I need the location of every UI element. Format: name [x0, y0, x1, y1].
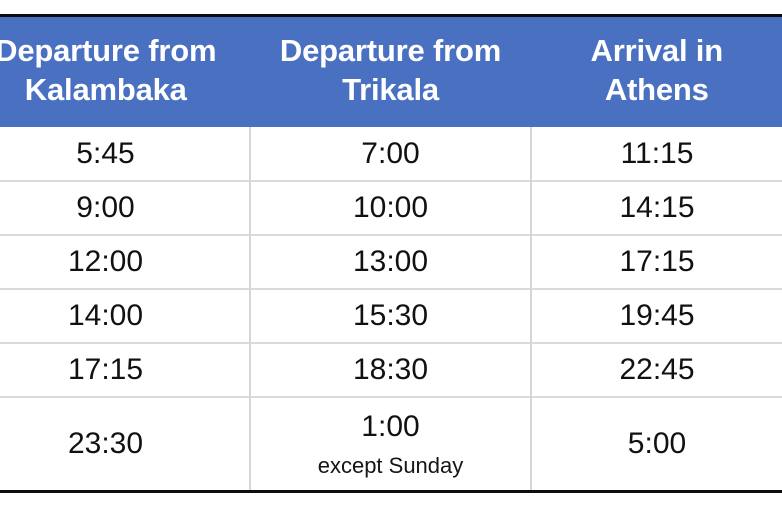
cell-value: 17:15	[538, 245, 776, 278]
cell-value: 15:30	[257, 299, 524, 332]
cell-arrival-athens: 5:00	[531, 397, 782, 492]
cell-departure-kalambaka: 14:00	[0, 289, 250, 343]
cell-departure-kalambaka: 9:00	[0, 181, 250, 235]
cell-value: 22:45	[538, 353, 776, 386]
cell-value: 13:00	[257, 245, 524, 278]
table-row: 9:00 10:00 14:15	[0, 181, 782, 235]
column-header-line-1: Arrival in	[538, 31, 777, 70]
table-row: 5:45 7:00 11:15	[0, 127, 782, 181]
cell-value: 5:00	[538, 427, 776, 460]
cell-value: 1:00	[257, 410, 524, 443]
cell-value: 18:30	[257, 353, 524, 386]
column-header-line-2: Athens	[538, 70, 777, 109]
column-header-line-2: Kalambaka	[0, 70, 244, 109]
cell-arrival-athens: 19:45	[531, 289, 782, 343]
column-header-line-2: Trikala	[257, 70, 525, 109]
cell-arrival-athens: 17:15	[531, 235, 782, 289]
table-row: 23:30 1:00 except Sunday 5:00	[0, 397, 782, 492]
cell-value: 11:15	[538, 137, 776, 170]
table-body: 5:45 7:00 11:15 9:00 10:00	[0, 127, 782, 492]
bus-timetable: Departure from Kalambaka Departure from …	[0, 14, 782, 493]
cell-departure-trikala: 13:00	[250, 235, 531, 289]
cell-departure-trikala: 18:30	[250, 343, 531, 397]
cell-departure-trikala: 7:00	[250, 127, 531, 181]
column-header-line-1: Departure from	[257, 31, 525, 70]
table-row: 17:15 18:30 22:45	[0, 343, 782, 397]
table-viewport: Departure from Kalambaka Departure from …	[0, 0, 782, 508]
cell-arrival-athens: 22:45	[531, 343, 782, 397]
header-row: Departure from Kalambaka Departure from …	[0, 16, 782, 127]
cell-value: 14:00	[0, 299, 243, 332]
cell-arrival-athens: 11:15	[531, 127, 782, 181]
table-row: 14:00 15:30 19:45	[0, 289, 782, 343]
cell-value: 10:00	[257, 191, 524, 224]
cell-note: except Sunday	[257, 453, 524, 478]
cell-value: 14:15	[538, 191, 776, 224]
cell-departure-kalambaka: 23:30	[0, 397, 250, 492]
column-header-arrival-athens: Arrival in Athens	[531, 16, 782, 127]
cell-value: 19:45	[538, 299, 776, 332]
table-header: Departure from Kalambaka Departure from …	[0, 16, 782, 127]
cell-value: 7:00	[257, 137, 524, 170]
cell-departure-trikala: 1:00 except Sunday	[250, 397, 531, 492]
cell-arrival-athens: 14:15	[531, 181, 782, 235]
cell-departure-kalambaka: 5:45	[0, 127, 250, 181]
cell-departure-trikala: 10:00	[250, 181, 531, 235]
column-header-departure-trikala: Departure from Trikala	[250, 16, 531, 127]
cell-value: 12:00	[0, 245, 243, 278]
cell-departure-kalambaka: 12:00	[0, 235, 250, 289]
cell-value: 17:15	[0, 353, 243, 386]
cell-departure-kalambaka: 17:15	[0, 343, 250, 397]
cell-departure-trikala: 15:30	[250, 289, 531, 343]
column-header-departure-kalambaka: Departure from Kalambaka	[0, 16, 250, 127]
cell-value: 23:30	[0, 427, 243, 460]
cell-value: 5:45	[0, 137, 243, 170]
cell-value: 9:00	[0, 191, 243, 224]
column-header-line-1: Departure from	[0, 31, 244, 70]
screenshot-root: Departure from Kalambaka Departure from …	[0, 0, 782, 508]
table-row: 12:00 13:00 17:15	[0, 235, 782, 289]
